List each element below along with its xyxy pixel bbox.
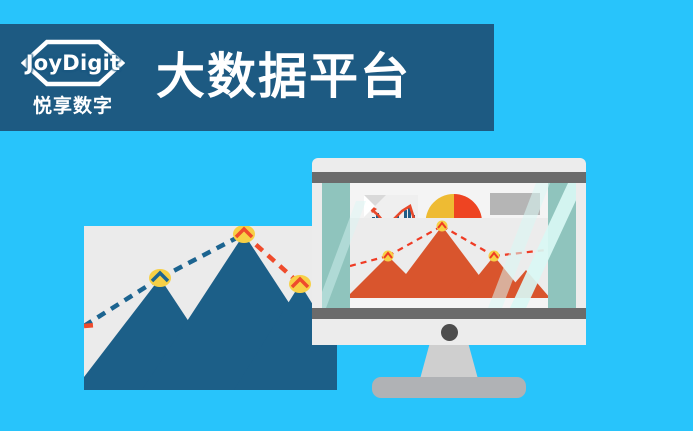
brand-logo: JoyDigit 悦享数字 bbox=[12, 38, 134, 118]
header-banner: JoyDigit 悦享数字 大数据平台 bbox=[0, 24, 494, 131]
chart-baseline-gap bbox=[350, 298, 548, 308]
page-fold-corner bbox=[364, 195, 386, 217]
mountain-shapes bbox=[84, 234, 337, 390]
monitor-top-bar bbox=[312, 172, 586, 183]
desktop-monitor bbox=[312, 158, 586, 390]
area-mountain-chart[interactable] bbox=[350, 218, 548, 308]
logo-wordmark: JoyDigit bbox=[26, 51, 120, 75]
monitor-screen bbox=[322, 183, 576, 308]
logo-subtitle: 悦享数字 bbox=[33, 91, 113, 118]
monitor-stand-neck bbox=[420, 345, 478, 379]
logo-hexagon-icon: JoyDigit bbox=[19, 38, 127, 88]
page-title: 大数据平台 bbox=[156, 53, 411, 102]
placeholder-block bbox=[490, 193, 540, 215]
illustration-canvas: JoyDigit 悦享数字 大数据平台 bbox=[0, 0, 693, 431]
screen-content-area bbox=[350, 183, 548, 308]
left-mountain-chart-panel bbox=[84, 226, 337, 390]
monitor-power-button[interactable] bbox=[441, 324, 458, 341]
monitor-stand-base bbox=[372, 377, 526, 398]
monitor-bottom-bar bbox=[312, 308, 586, 319]
